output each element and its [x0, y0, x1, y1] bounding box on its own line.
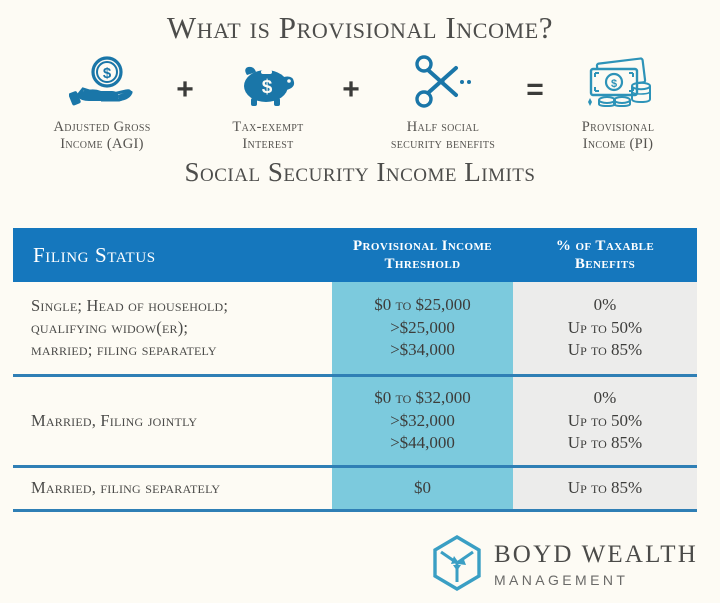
cell-filing-status: Married, filing separately: [13, 468, 332, 509]
formula-label-agi-line2: Income (AGI): [53, 136, 150, 153]
formula-label-half-ss-line2: security benefits: [391, 136, 495, 153]
cell-threshold: $0 to $25,000 >$25,000 >$34,000: [332, 282, 513, 374]
table-row: Married, filing separately $0 Up to 85%: [13, 468, 697, 509]
boyd-hexagon-logo-icon: [430, 534, 484, 597]
threshold-line2: >$25,000: [374, 317, 471, 340]
status-line1: Single; Head of household;: [31, 295, 228, 317]
formula-item-tax-exempt-interest: $ Tax-exempt Interest: [202, 53, 334, 153]
operator-plus-2: +: [334, 53, 368, 105]
cell-threshold: $0: [332, 468, 513, 509]
formula-item-half-social-security: Half social security benefits: [368, 53, 518, 153]
formula-item-provisional-income: $ Provisional Income (PI): [552, 53, 684, 153]
taxable-line3: Up to 85%: [568, 339, 642, 362]
svg-text:$: $: [262, 77, 273, 98]
brand-text: BOYD WEALTH MANAGEMENT: [494, 542, 698, 588]
section-title: Social Security Income Limits: [0, 157, 720, 188]
formula-label-half-social-security: Half social security benefits: [391, 119, 495, 153]
threshold-line3: >$34,000: [374, 339, 471, 362]
table-row: Married, Filing jointly $0 to $32,000 >$…: [13, 377, 697, 465]
formula-item-agi: $ Adjusted Gross Income (AGI): [36, 53, 168, 153]
table-bottom-divider: [13, 509, 697, 512]
formula-label-agi-line1: Adjusted Gross: [53, 119, 150, 136]
header-filing-status: Filing Status: [13, 228, 332, 282]
row-divider-segment: [241, 509, 469, 512]
threshold-line1: $0 to $32,000: [374, 387, 471, 410]
taxable-line1: Up to 85%: [568, 477, 642, 500]
piggy-bank-icon: $: [235, 53, 301, 113]
threshold-line1: $0 to $25,000: [374, 294, 471, 317]
threshold-line3: >$44,000: [374, 432, 471, 455]
taxable-line1: 0%: [568, 294, 642, 317]
infographic-page: What is Provisional Income? $ Adjusted G…: [0, 0, 720, 603]
formula-label-tax-exempt-interest: Tax-exempt Interest: [232, 119, 303, 153]
header-percent-taxable-benefits: % of Taxable Benefits: [513, 228, 697, 282]
brand-subtitle: MANAGEMENT: [494, 571, 698, 589]
table-header-row: Filing Status Provisional Income Thresho…: [13, 228, 697, 282]
row-divider-segment: [469, 509, 697, 512]
brand-name: BOYD WEALTH: [494, 542, 698, 568]
taxable-line3: Up to 85%: [568, 432, 642, 455]
svg-text:$: $: [611, 78, 617, 90]
hand-with-coin-icon: $: [69, 53, 135, 113]
formula-label-provisional-income: Provisional Income (PI): [582, 119, 654, 153]
header-threshold-line1: Provisional Income: [353, 237, 492, 255]
formula-label-interest-line2: Interest: [232, 136, 303, 153]
cell-taxable-percent: Up to 85%: [513, 468, 697, 509]
page-title: What is Provisional Income?: [0, 0, 720, 45]
operator-plus-1: +: [168, 53, 202, 105]
status-line1: Married, Filing jointly: [31, 410, 197, 432]
cell-taxable-percent: 0% Up to 50% Up to 85%: [513, 282, 697, 374]
table-row: Single; Head of household; qualifying wi…: [13, 282, 697, 374]
status-line2: qualifying widow(er);: [31, 317, 228, 339]
cell-taxable-percent: 0% Up to 50% Up to 85%: [513, 377, 697, 465]
formula-label-pi-line1: Provisional: [582, 119, 654, 136]
taxable-line2: Up to 50%: [568, 317, 642, 340]
income-limits-table: Filing Status Provisional Income Thresho…: [13, 228, 697, 512]
threshold-line1: $0: [414, 477, 431, 500]
header-taxable-line2: Benefits: [556, 255, 654, 273]
header-threshold-line2: Threshold: [353, 255, 492, 273]
formula-label-interest-line1: Tax-exempt: [232, 119, 303, 136]
formula-label-pi-line2: Income (PI): [582, 136, 654, 153]
row-divider-segment: [13, 509, 241, 512]
status-line1: Married, filing separately: [31, 477, 220, 499]
header-taxable-line1: % of Taxable: [556, 237, 654, 255]
cell-filing-status: Married, Filing jointly: [13, 377, 332, 465]
cell-filing-status: Single; Head of household; qualifying wi…: [13, 282, 332, 374]
threshold-line2: >$32,000: [374, 410, 471, 433]
header-provisional-income-threshold: Provisional Income Threshold: [332, 228, 513, 282]
formula-label-agi: Adjusted Gross Income (AGI): [53, 119, 150, 153]
operator-equals: =: [518, 53, 552, 105]
svg-text:$: $: [103, 65, 112, 82]
cell-threshold: $0 to $32,000 >$32,000 >$44,000: [332, 377, 513, 465]
footer: BOYD WEALTH MANAGEMENT: [0, 528, 720, 603]
taxable-line2: Up to 50%: [568, 410, 642, 433]
brand-logo[interactable]: BOYD WEALTH MANAGEMENT: [430, 534, 698, 597]
scissors-icon: [412, 53, 474, 113]
status-line3: married; filing separately: [31, 339, 228, 361]
taxable-line1: 0%: [568, 387, 642, 410]
formula-label-half-ss-line1: Half social: [391, 119, 495, 136]
provisional-income-formula: $ Adjusted Gross Income (AGI) +: [0, 53, 720, 153]
banknotes-coins-icon: $: [581, 53, 655, 113]
